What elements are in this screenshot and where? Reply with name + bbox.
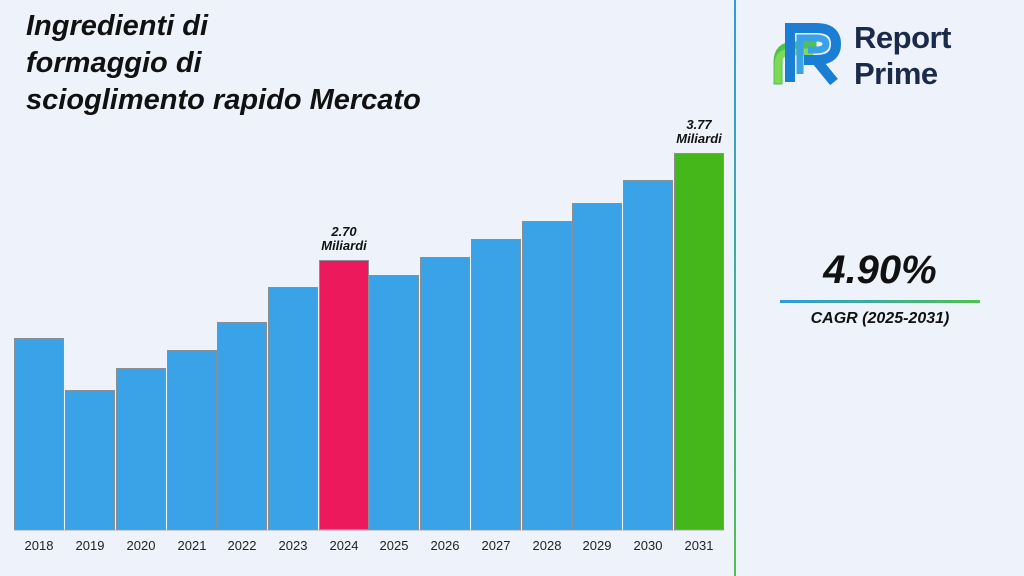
brand-logo: Report Prime	[772, 14, 1002, 94]
bar-2029	[572, 203, 622, 530]
cagr-divider-rule	[780, 300, 980, 303]
bar-column-2027	[471, 130, 521, 530]
x-tick-2022: 2022	[217, 538, 267, 553]
bar-column-2022	[217, 130, 267, 530]
bar-column-2019	[65, 130, 115, 530]
bar-2027	[471, 239, 521, 530]
bar-column-2030	[623, 130, 673, 530]
bar-2019	[65, 390, 115, 530]
bar-2028	[522, 221, 572, 530]
bar-value-label-2031: 3.77 Miliardi	[660, 118, 738, 147]
x-tick-2027: 2027	[471, 538, 521, 553]
bar-2024	[319, 260, 369, 530]
infographic-page: Ingredienti di formaggio di scioglimento…	[0, 0, 1024, 576]
x-tick-2029: 2029	[572, 538, 622, 553]
bar-column-2026	[420, 130, 470, 530]
x-tick-2026: 2026	[420, 538, 470, 553]
brand-logo-text: Report Prime	[854, 20, 1004, 92]
bar-column-2024: 2.70 Miliardi	[319, 130, 369, 530]
bar-column-2029	[572, 130, 622, 530]
report-prime-logo-mark-icon	[772, 18, 844, 90]
bar-column-2028	[522, 130, 572, 530]
x-tick-2021: 2021	[167, 538, 217, 553]
bar-column-2031: 3.77 Miliardi	[674, 130, 724, 530]
bar-2021	[167, 350, 217, 530]
x-tick-2024: 2024	[319, 538, 369, 553]
bar-2020	[116, 368, 166, 530]
side-panel: Report Prime 4.90% CAGR (2025-2031)	[736, 0, 1024, 576]
bar-column-2023	[268, 130, 318, 530]
cagr-caption: CAGR (2025-2031)	[736, 310, 1024, 328]
bar-column-2025	[369, 130, 419, 530]
x-tick-2020: 2020	[116, 538, 166, 553]
bar-column-2021	[167, 130, 217, 530]
x-axis-line	[14, 530, 724, 531]
bar-column-2020	[116, 130, 166, 530]
cagr-block: 4.90% CAGR (2025-2031)	[736, 248, 1024, 328]
bar-2026	[420, 257, 470, 530]
x-tick-2031: 2031	[674, 538, 724, 553]
x-axis-tick-labels: 2018201920202021202220232024202520262027…	[14, 538, 724, 562]
x-tick-2023: 2023	[268, 538, 318, 553]
bar-2022	[217, 322, 267, 530]
x-tick-2030: 2030	[623, 538, 673, 553]
bar-2018	[14, 338, 64, 530]
x-tick-2025: 2025	[369, 538, 419, 553]
x-tick-2019: 2019	[65, 538, 115, 553]
cagr-value: 4.90%	[736, 248, 1024, 292]
chart-panel: Ingredienti di formaggio di scioglimento…	[0, 0, 734, 576]
x-tick-2028: 2028	[522, 538, 572, 553]
chart-title: Ingredienti di formaggio di scioglimento…	[26, 8, 586, 119]
bar-chart-plot: 2.70 Miliardi3.77 Miliardi	[14, 130, 724, 530]
bar-2023	[268, 287, 318, 530]
x-tick-2018: 2018	[14, 538, 64, 553]
bar-2031	[674, 153, 724, 530]
bar-2025	[369, 275, 419, 530]
bar-column-2018	[14, 130, 64, 530]
bar-2030	[623, 180, 673, 530]
